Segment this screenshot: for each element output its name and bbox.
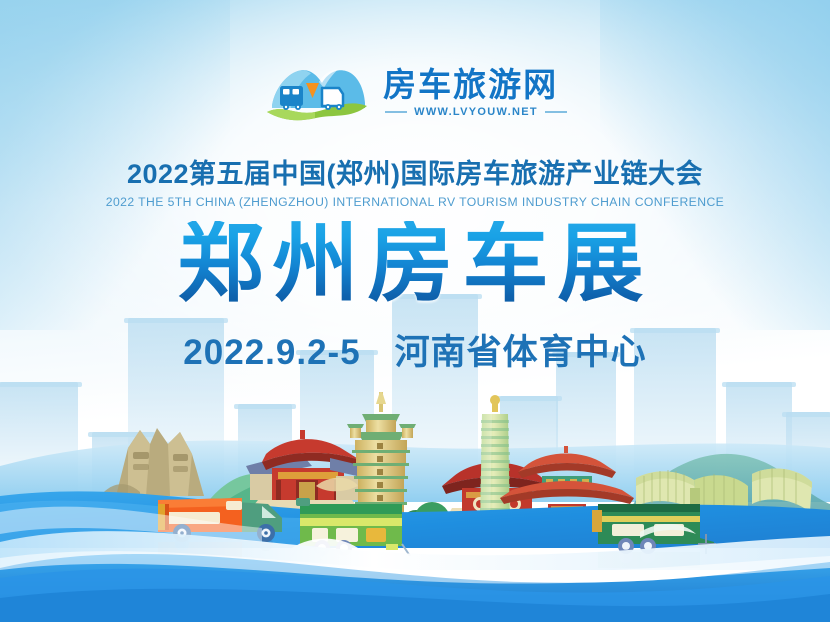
logo-text: 房车旅游网 WWW.LVYOUW.NET	[383, 68, 567, 119]
logo-url-row: WWW.LVYOUW.NET	[383, 106, 567, 118]
logo-url: WWW.LVYOUW.NET	[414, 106, 538, 118]
rv-mountain-logo-icon	[263, 60, 371, 126]
main-headline: 郑州房车展	[0, 221, 830, 309]
poster-root: 房车旅游网 WWW.LVYOUW.NET 2022第五届中国(郑州)国际房车旅游…	[0, 0, 830, 622]
url-dash-right	[545, 111, 567, 113]
url-dash-left	[385, 111, 407, 113]
site-logo[interactable]: 房车旅游网 WWW.LVYOUW.NET	[0, 60, 830, 126]
title-block: 2022第五届中国(郑州)国际房车旅游产业链大会 2022 THE 5TH CH…	[0, 158, 830, 375]
landmark-scene	[0, 392, 830, 622]
logo-brand-cn: 房车旅游网	[383, 68, 567, 103]
event-info-line: 2022.9.2-5河南省体育中心	[0, 324, 830, 375]
conference-title-en: 2022 THE 5TH CHINA (ZHENGZHOU) INTERNATI…	[0, 195, 830, 209]
event-dates: 2022.9.2-5	[183, 333, 360, 372]
conference-title-cn: 2022第五届中国(郑州)国际房车旅游产业链大会	[0, 158, 830, 192]
event-venue: 河南省体育中心	[395, 333, 647, 372]
scene-svg	[0, 392, 830, 622]
